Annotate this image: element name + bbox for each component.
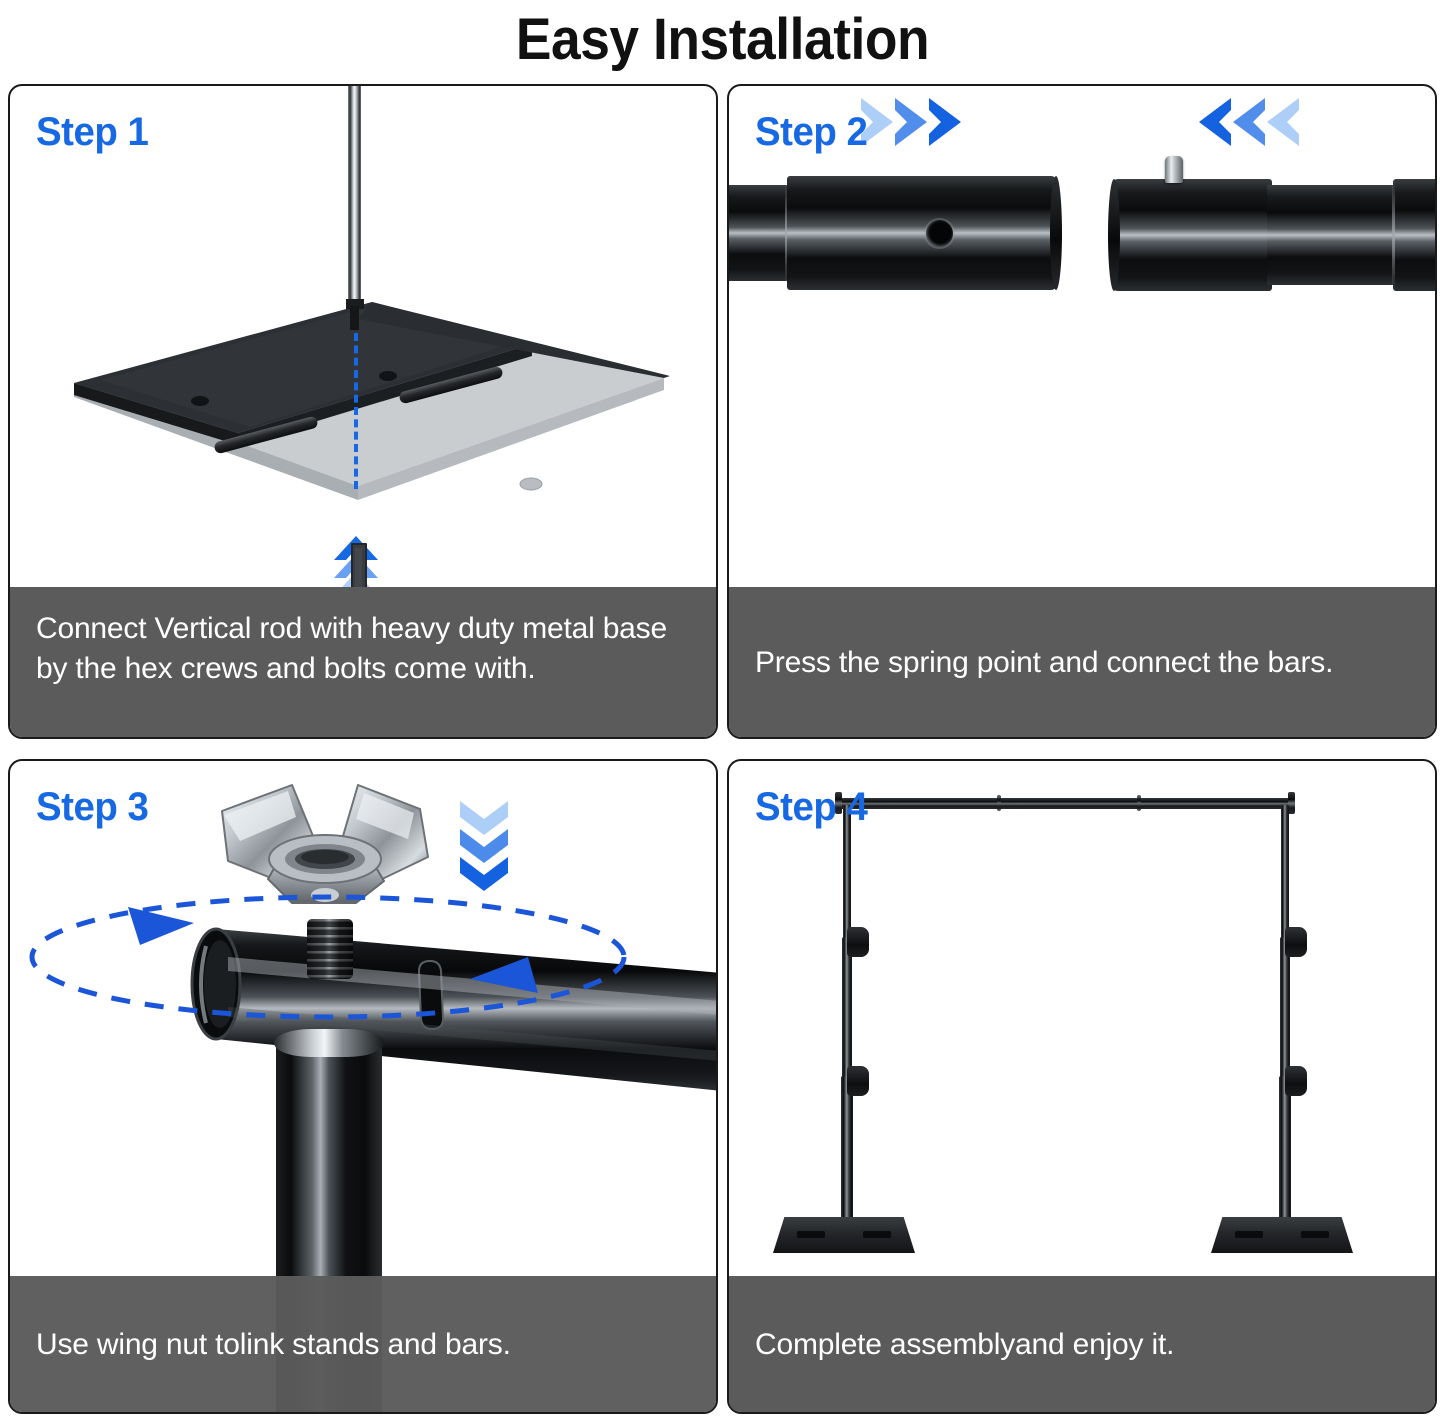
step-4-label: Step 4: [755, 785, 867, 830]
steps-grid: Step 1: [8, 84, 1437, 1414]
step-panel-4: Step 4: [727, 759, 1437, 1414]
left-bar-end: [1050, 176, 1062, 290]
right-bar-seam: [1392, 178, 1395, 292]
right-bar-with-spring-button: [1112, 179, 1272, 291]
step-3-caption: Use wing nut tolink stands and bars.: [10, 1276, 716, 1412]
step-1-caption: Connect Vertical rod with heavy duty met…: [10, 587, 716, 737]
left-pole-bottom-section: [841, 1076, 853, 1227]
right-pole-top-section: [1281, 805, 1289, 940]
bar-locking-hole: [926, 220, 953, 247]
right-pole-bottom-section: [1279, 1076, 1291, 1227]
left-bar-thin-section: [727, 185, 789, 281]
right-pole-mid-section: [1280, 937, 1290, 1079]
crossbar-right-cap: [1288, 792, 1295, 814]
step-panel-1: Step 1: [8, 84, 718, 739]
crossbar-joint-left: [997, 795, 1001, 811]
right-clamp-lower: [1285, 1066, 1307, 1096]
right-base-slot-b: [1301, 1231, 1329, 1238]
left-clamp-lower: [847, 1066, 869, 1096]
left-arrow-icons: [1195, 96, 1303, 148]
step-2-label: Step 2: [755, 110, 867, 155]
right-base-slot-a: [1235, 1231, 1263, 1238]
step-panel-3: Step 3: [8, 759, 718, 1414]
step-4-caption: Complete assemblyand enjoy it.: [729, 1276, 1435, 1412]
left-base-plate: [773, 1217, 915, 1253]
step-1-label: Step 1: [36, 110, 148, 155]
rotation-dashed-ellipse: [18, 883, 638, 1035]
left-bar-with-hole: [787, 176, 1057, 290]
pole-collar: [274, 1029, 384, 1057]
left-pole-mid-section: [842, 937, 852, 1079]
alignment-dashed-line: [354, 333, 358, 489]
right-bar-open-end: [1108, 179, 1120, 291]
page-title: Easy Installation: [58, 0, 1387, 78]
left-clamp-upper: [847, 927, 869, 957]
step-panel-2: Step 2: [727, 84, 1437, 739]
step-3-label: Step 3: [36, 785, 148, 830]
step-2-caption: Press the spring point and connect the b…: [729, 587, 1435, 737]
crossbar: [837, 798, 1292, 809]
crossbar-joint-right: [1137, 795, 1141, 811]
right-arrow-icons: [857, 96, 965, 148]
right-bar-far-section: [1393, 179, 1437, 291]
right-base-plate: [1211, 1217, 1353, 1253]
down-arrow-icons: [458, 797, 510, 893]
spring-button-icon: [1165, 156, 1183, 183]
right-clamp-upper: [1285, 927, 1307, 957]
left-base-slot-b: [863, 1231, 891, 1238]
right-bar-step-down: [1267, 185, 1399, 285]
left-base-slot-a: [797, 1231, 825, 1238]
